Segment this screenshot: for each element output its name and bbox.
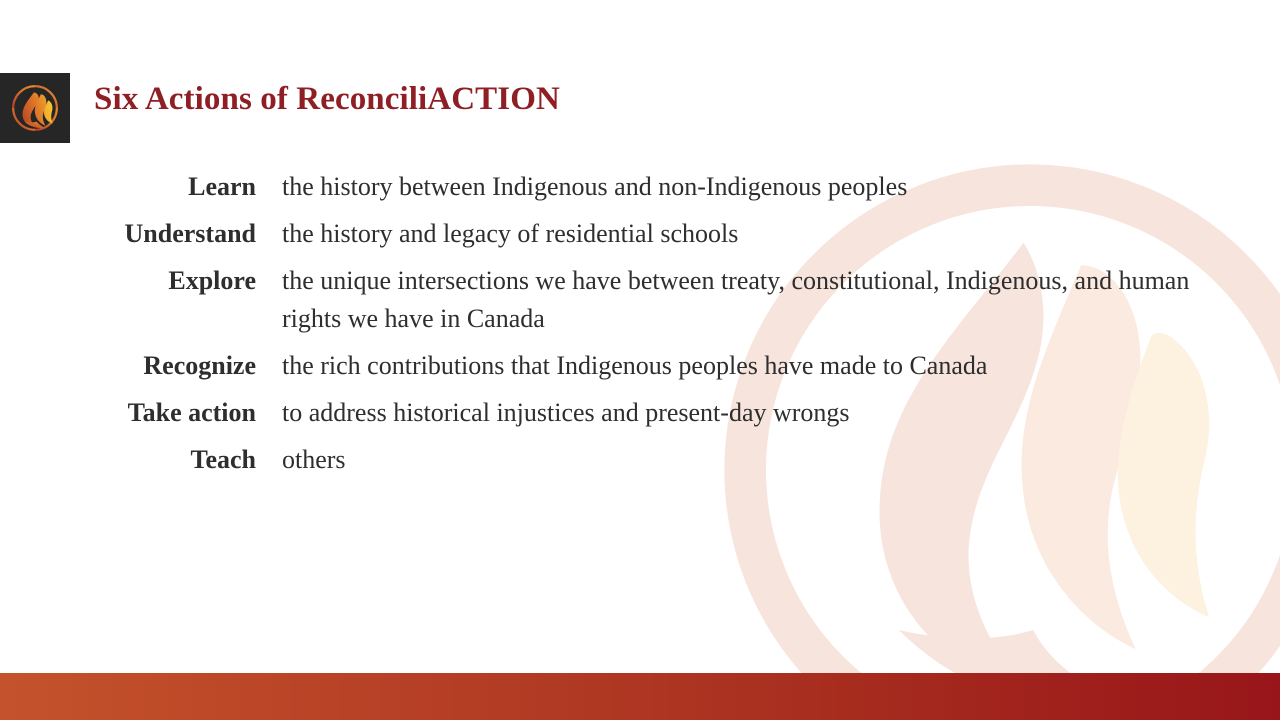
action-description: the history between Indigenous and non-I… [256,168,1207,206]
action-term: Recognize [0,347,256,385]
actions-list: Learn the history between Indigenous and… [0,168,1230,488]
action-term: Take action [0,394,256,432]
flame-circle-logo-icon [9,82,61,134]
action-term: Teach [0,441,256,479]
list-item: Take action to address historical injust… [0,394,1230,432]
action-description: the rich contributions that Indigenous p… [256,347,1207,385]
list-item: Recognize the rich contributions that In… [0,347,1230,385]
page-title: Six Actions of ReconciliACTION [94,75,560,123]
action-term: Understand [0,215,256,253]
action-term: Learn [0,168,256,206]
logo-tile [0,73,70,143]
action-description: others [256,441,1207,479]
bottom-accent-bar [0,673,1280,720]
list-item: Learn the history between Indigenous and… [0,168,1230,206]
list-item: Teach others [0,441,1230,479]
action-description: to address historical injustices and pre… [256,394,1207,432]
action-description: the unique intersections we have between… [256,262,1207,338]
slide: Six Actions of ReconciliACTION Learn the… [0,0,1280,720]
action-description: the history and legacy of residential sc… [256,215,1207,253]
list-item: Understand the history and legacy of res… [0,215,1230,253]
action-term: Explore [0,262,256,300]
list-item: Explore the unique intersections we have… [0,262,1230,338]
